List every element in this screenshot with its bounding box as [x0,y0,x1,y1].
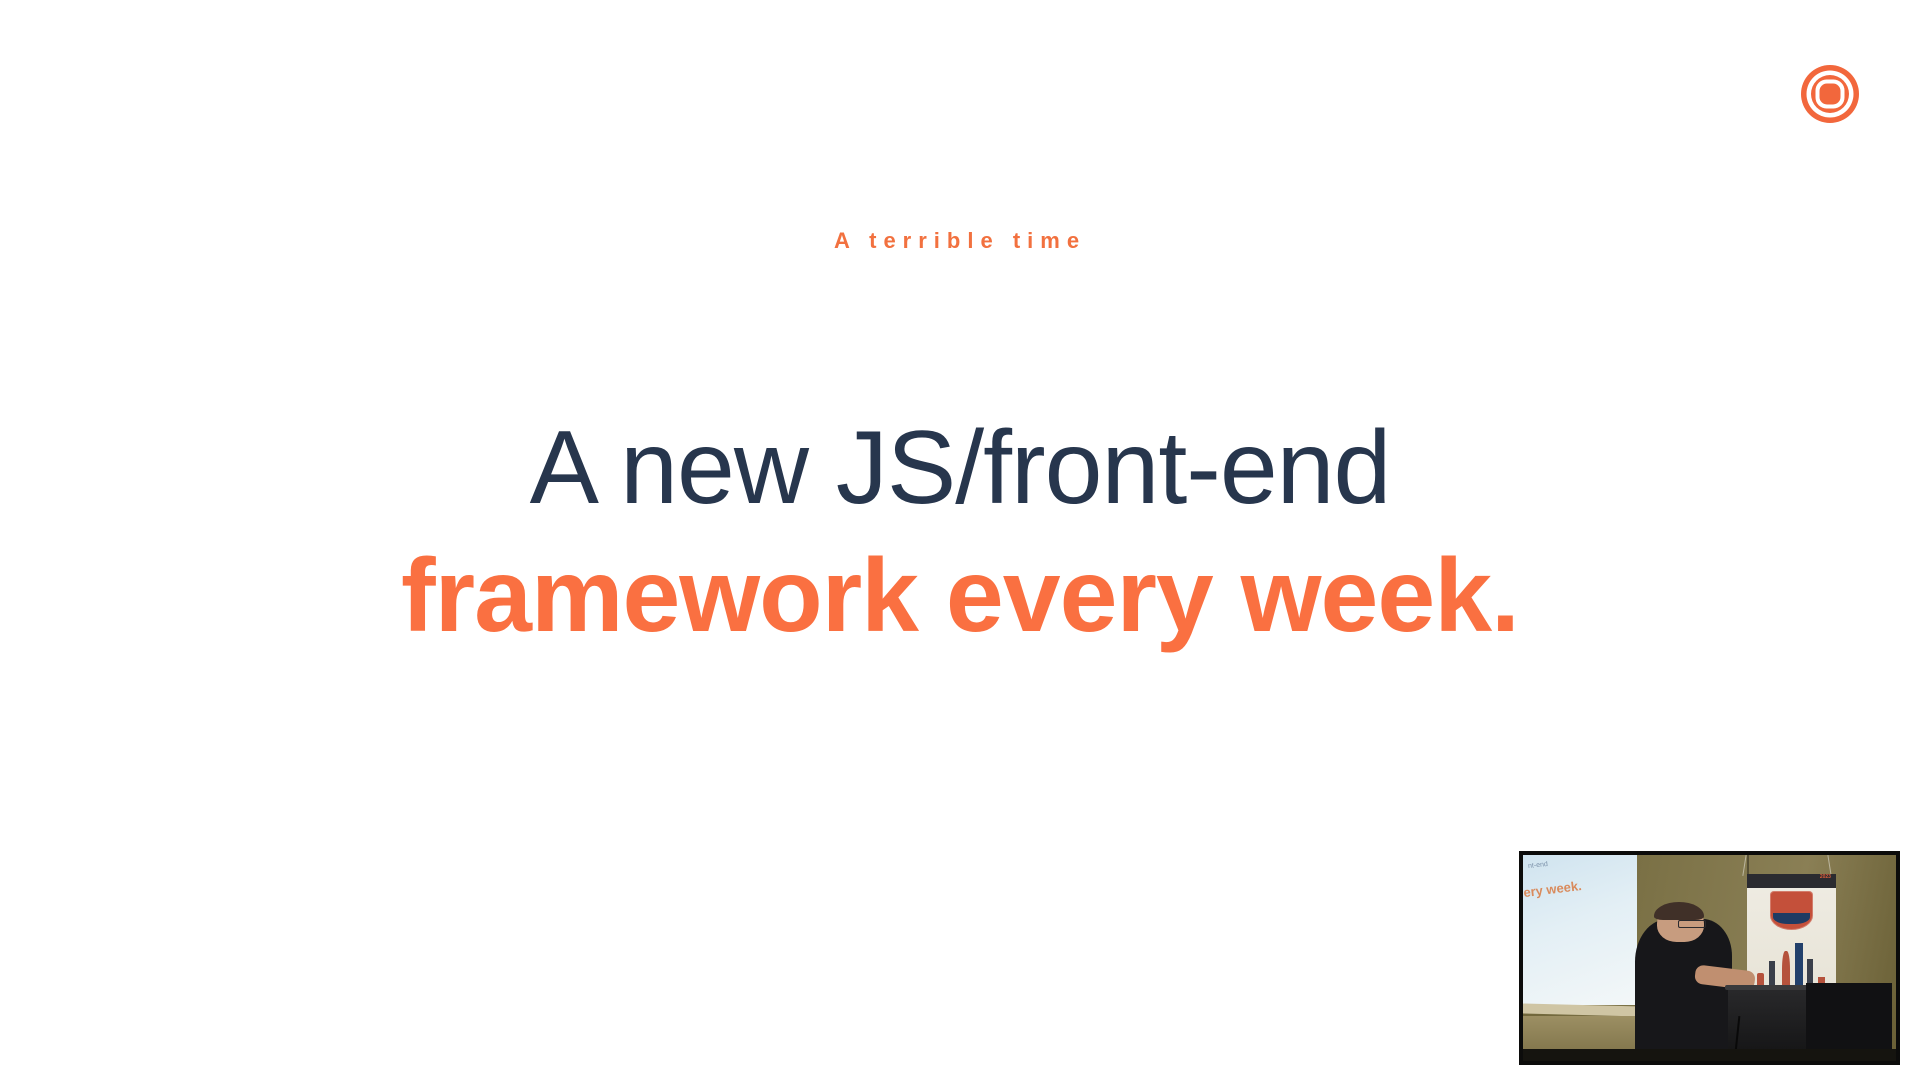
projected-text-line-2: very week. [1523,878,1583,901]
slide-canvas: A terrible time A new JS/front-end frame… [0,0,1920,1080]
bullseye-target-logo-icon [1800,64,1860,124]
video-floor [1523,1049,1896,1061]
banner-header-bar: 2023 [1747,874,1837,888]
video-podium-top [1725,985,1810,990]
video-projection-screen: nt-end very week. [1523,855,1637,1005]
slide-headline: A new JS/front-end framework every week. [0,404,1920,660]
video-banner-cords [1739,855,1843,876]
projected-text-line-1: nt-end [1528,861,1548,870]
speaker-video-overlay[interactable]: nt-end very week. 2023 [1519,851,1900,1065]
video-speaker-hair [1654,902,1704,920]
slide-eyebrow: A terrible time [0,226,1920,256]
headline-line-primary: A new JS/front-end [0,404,1920,532]
banner-crest-icon [1770,891,1813,929]
banner-year-tag: 2023 [1820,874,1831,880]
banner-crest-band [1773,913,1811,924]
headline-line-accent: framework every week. [0,532,1920,660]
video-frame: nt-end very week. 2023 [1523,855,1896,1061]
video-speaker-glasses [1678,920,1706,928]
